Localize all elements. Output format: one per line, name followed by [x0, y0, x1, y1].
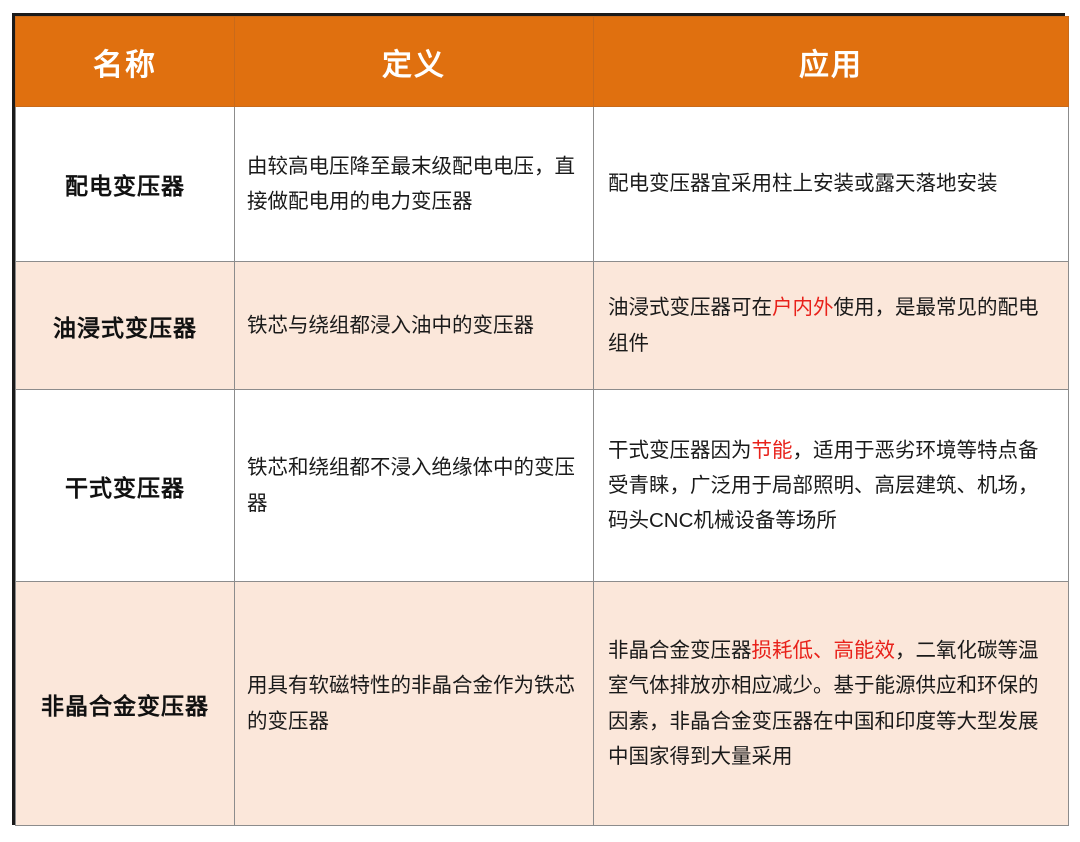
table-row: 干式变压器 铁芯和绕组都不浸入绝缘体中的变压器 干式变压器因为节能，适用于恶劣环… [16, 390, 1069, 582]
transformer-comparison-table: 名称 定义 应用 配电变压器 由较高电压降至最末级配电电压，直接做配电用的电力变… [15, 16, 1069, 826]
transformer-comparison-table-container: 名称 定义 应用 配电变压器 由较高电压降至最末级配电电压，直接做配电用的电力变… [12, 13, 1065, 825]
body-text: 非晶合金变压器 [608, 639, 752, 662]
highlighted-text: 损耗低、高能效 [752, 639, 896, 662]
cell-name: 干式变压器 [16, 390, 235, 582]
cell-application: 配电变压器宜采用柱上安装或露天落地安装 [594, 107, 1069, 262]
cell-name: 油浸式变压器 [16, 262, 235, 390]
column-header-application: 应用 [594, 17, 1069, 107]
table-row: 配电变压器 由较高电压降至最末级配电电压，直接做配电用的电力变压器 配电变压器宜… [16, 107, 1069, 262]
cell-application: 油浸式变压器可在户内外使用，是最常见的配电组件 [594, 262, 1069, 390]
cell-name: 配电变压器 [16, 107, 235, 262]
table-row: 非晶合金变压器 用具有软磁特性的非晶合金作为铁芯的变压器 非晶合金变压器损耗低、… [16, 582, 1069, 826]
table-header-row: 名称 定义 应用 [16, 17, 1069, 107]
highlighted-text: 户内外 [772, 296, 834, 319]
body-text: 配电变压器宜采用柱上安装或露天落地安装 [608, 172, 998, 195]
cell-definition: 用具有软磁特性的非晶合金作为铁芯的变压器 [235, 582, 594, 826]
table-row: 油浸式变压器 铁芯与绕组都浸入油中的变压器 油浸式变压器可在户内外使用，是最常见… [16, 262, 1069, 390]
cell-definition: 铁芯与绕组都浸入油中的变压器 [235, 262, 594, 390]
cell-definition: 铁芯和绕组都不浸入绝缘体中的变压器 [235, 390, 594, 582]
cell-application: 干式变压器因为节能，适用于恶劣环境等特点备受青睐，广泛用于局部照明、高层建筑、机… [594, 390, 1069, 582]
highlighted-text: 节能 [752, 439, 793, 462]
cell-definition: 由较高电压降至最末级配电电压，直接做配电用的电力变压器 [235, 107, 594, 262]
column-header-name: 名称 [16, 17, 235, 107]
column-header-definition: 定义 [235, 17, 594, 107]
body-text: 油浸式变压器可在 [608, 296, 772, 319]
table-body: 配电变压器 由较高电压降至最末级配电电压，直接做配电用的电力变压器 配电变压器宜… [16, 107, 1069, 826]
cell-name: 非晶合金变压器 [16, 582, 235, 826]
table-header: 名称 定义 应用 [16, 17, 1069, 107]
body-text: 干式变压器因为 [608, 439, 752, 462]
cell-application: 非晶合金变压器损耗低、高能效，二氧化碳等温室气体排放亦相应减少。基于能源供应和环… [594, 582, 1069, 826]
